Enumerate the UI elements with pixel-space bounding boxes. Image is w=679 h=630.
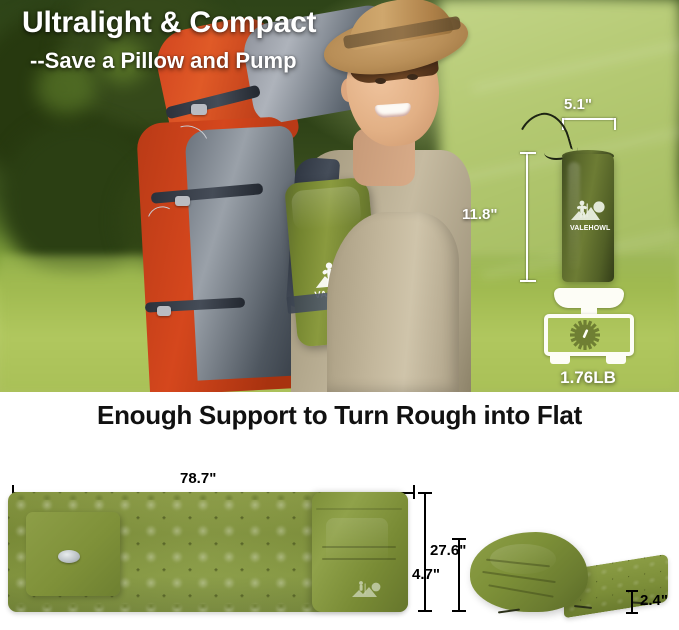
pillow-seam <box>316 508 402 510</box>
weighing-scale-icon <box>536 288 640 368</box>
pad-width-label: 27.6" <box>430 542 466 559</box>
pillow-fold <box>486 559 550 567</box>
pillow-seam <box>322 546 396 548</box>
pillow-fold <box>488 584 553 597</box>
pillow-fold <box>482 571 556 583</box>
width-dimension-tick <box>614 118 616 130</box>
pad-length-label: 78.7" <box>180 470 216 487</box>
subject-eye <box>407 74 418 80</box>
hero-subtitle: --Save a Pillow and Pump <box>30 48 297 74</box>
subject-eye <box>375 78 386 84</box>
stuff-sack-width-label: 5.1" <box>564 96 592 113</box>
pillow-height-line <box>458 538 460 611</box>
brand-logo-on-stuff-sack: VALEHOWL <box>568 196 609 232</box>
width-dimension-line <box>562 118 616 120</box>
pillow-seam <box>322 558 396 560</box>
height-dimension-tick <box>520 280 536 282</box>
hero-title: Ultralight & Compact <box>22 6 316 40</box>
pillow-height-label: 4.7" <box>412 566 440 583</box>
height-dimension-line <box>526 152 528 282</box>
product-weight-label: 1.76LB <box>500 368 676 388</box>
thickness-line <box>631 590 633 613</box>
mid-headline: Enough Support to Turn Rough into Flat <box>0 400 679 431</box>
length-dimension-tick <box>413 485 415 499</box>
backpack-buckle <box>157 306 171 316</box>
stuff-sack-dimension-callout: 5.1" 11.8" <box>500 96 675 386</box>
scale-platform <box>554 288 624 308</box>
product-infographic: VALEHOWL Ultralight & Compact --Save a P… <box>0 0 679 630</box>
inflation-valve <box>58 550 80 563</box>
width-dimension-line <box>424 492 426 611</box>
subject-arm <box>327 212 459 392</box>
backpack-body-gray <box>185 125 306 380</box>
stuff-sack-height-label: 11.8" <box>462 206 497 223</box>
scale-foot <box>606 355 626 364</box>
backpack-buckle <box>175 196 190 206</box>
svg-text:VALEHOWL: VALEHOWL <box>570 225 611 232</box>
pad-dimension-diagram: 78.7" <box>0 450 679 630</box>
pad-thickness-label: 2.4" <box>640 592 668 609</box>
backpack-buckle <box>191 104 207 115</box>
scale-foot <box>550 355 570 364</box>
hero-photo-panel: VALEHOWL Ultralight & Compact --Save a P… <box>0 0 679 392</box>
brand-logo-on-pillow <box>350 578 384 604</box>
gear-dial-icon <box>570 320 600 350</box>
side-view-pillow <box>470 532 588 612</box>
